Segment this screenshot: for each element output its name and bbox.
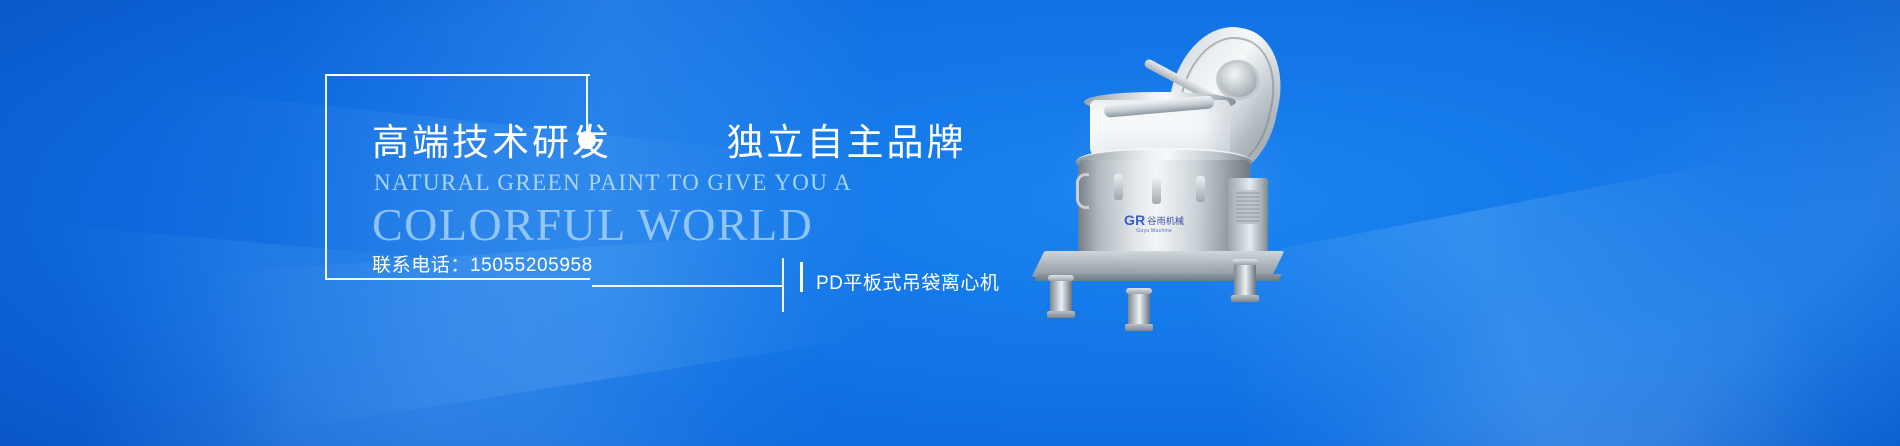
machine-leg-3 — [1234, 263, 1256, 297]
brand-mark-icon: GR — [1124, 212, 1145, 228]
product-photo-centrifuge: GR谷雨机械 Guyu Machine — [1020, 8, 1340, 338]
machine-clamp-1 — [1114, 174, 1123, 200]
machine-leg-1 — [1050, 279, 1072, 313]
brand-name-en: Guyu Machine — [1124, 227, 1184, 236]
machine-brand-logo: GR谷雨机械 Guyu Machine — [1124, 216, 1184, 236]
title-english: COLORFUL WORLD — [372, 198, 813, 251]
background-vignette — [0, 0, 1900, 446]
caption-tick-short — [800, 262, 803, 292]
caption-tick-tall — [782, 258, 784, 312]
headline-right-text: 独立自主品牌 — [727, 122, 967, 163]
machine-clamp-3 — [1196, 176, 1205, 202]
brand-name-cn: 谷雨机械 — [1147, 216, 1184, 226]
headline-left-text: 高端技术研发 — [372, 122, 612, 163]
machine-vent-grille — [1236, 190, 1260, 224]
subtitle-english: NATURAL GREEN PAINT TO GIVE YOU A — [374, 170, 852, 196]
promo-banner: 高端技术研发 独立自主品牌 NATURAL GREEN PAINT TO GIV… — [0, 0, 1900, 446]
contact-phone: 联系电话：15055205958 — [372, 250, 593, 277]
headline: 高端技术研发 独立自主品牌 — [372, 121, 967, 165]
frame-top-arm — [325, 74, 588, 76]
caption-connector-line — [592, 285, 782, 287]
machine-side-handle — [1076, 173, 1089, 209]
machine-leg-2 — [1128, 292, 1150, 326]
product-caption: PD平板式吊袋离心机 — [816, 268, 999, 295]
machine-clamp-2 — [1152, 178, 1161, 204]
